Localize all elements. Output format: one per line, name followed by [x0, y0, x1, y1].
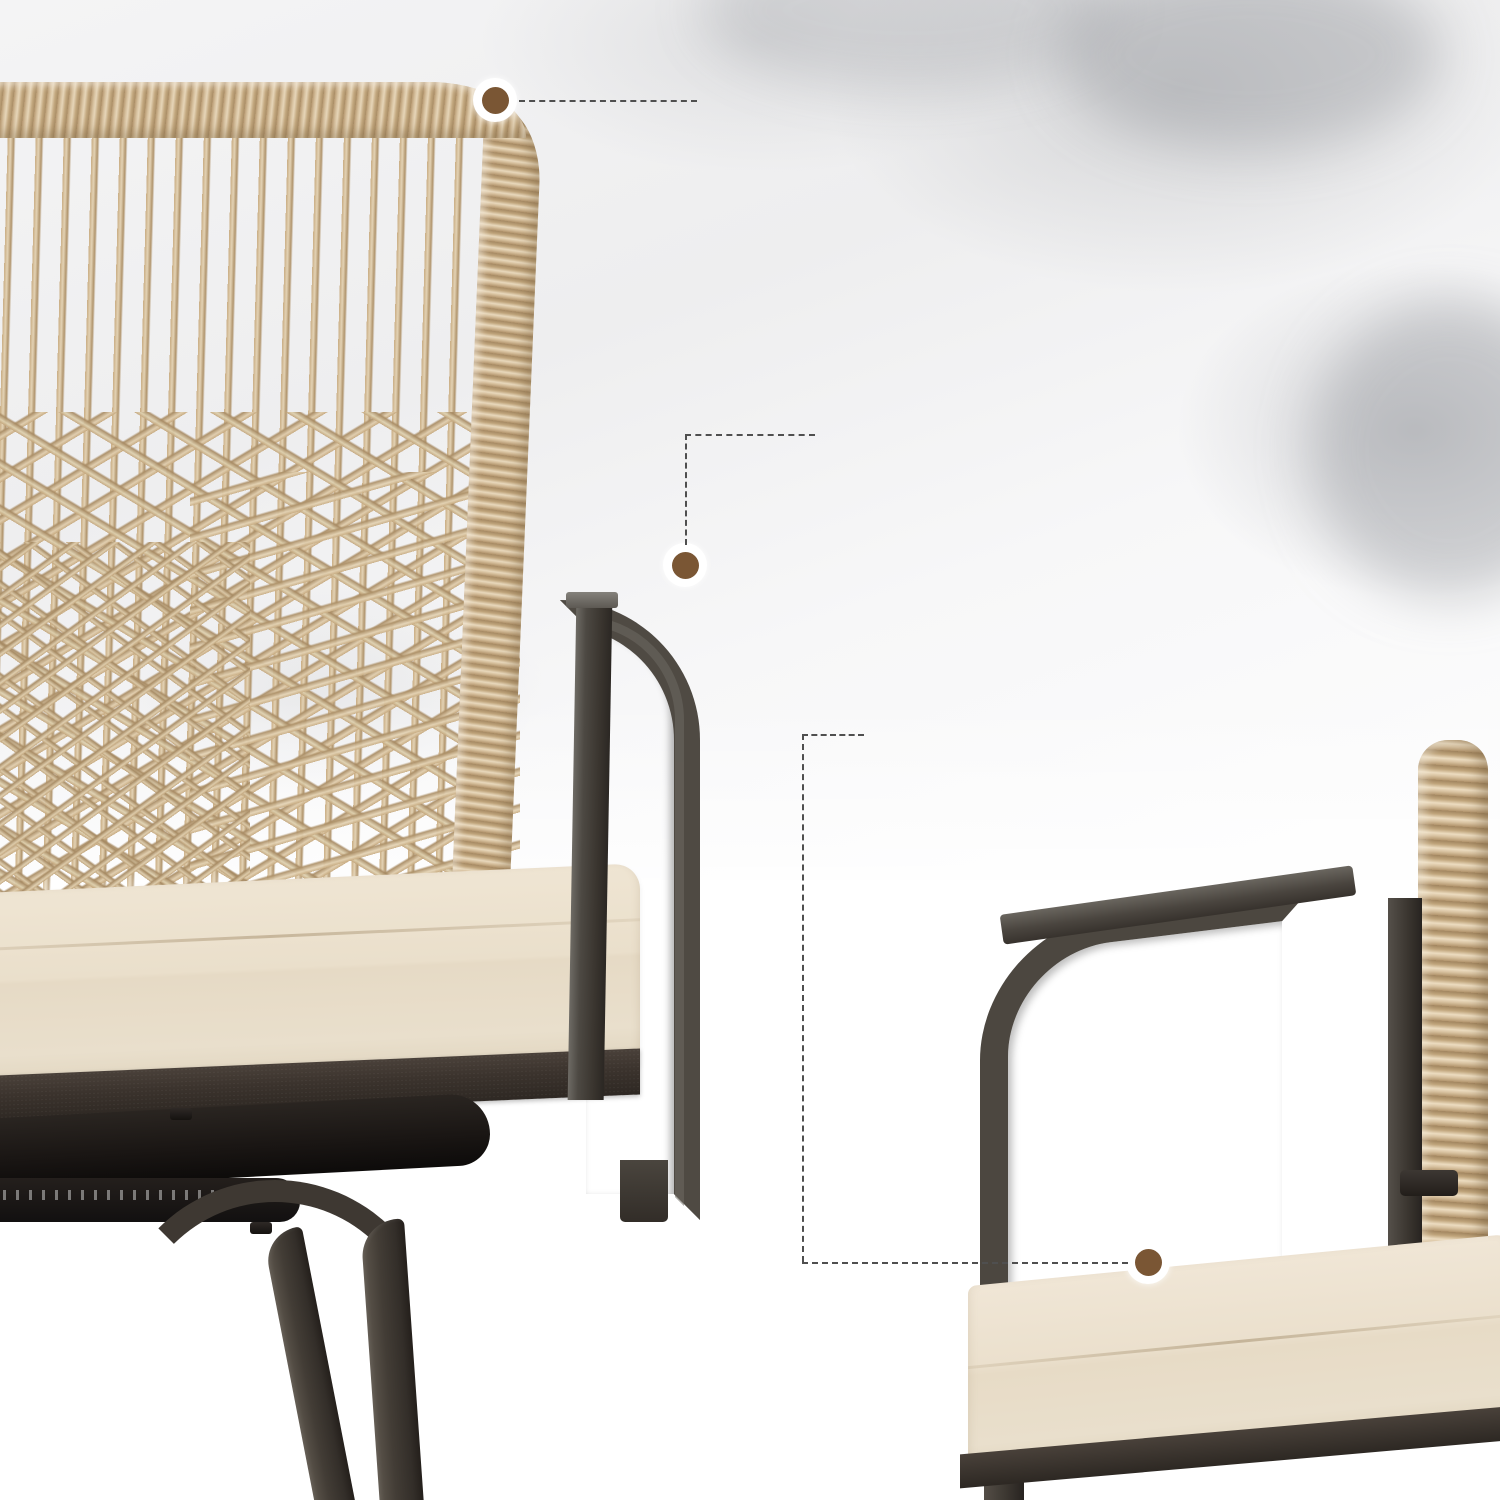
inset-product-photo: [950, 870, 1500, 1500]
infographic-canvas: Elegant Crisscross Rope Backrest Indoor/…: [0, 0, 1500, 1500]
callout-marker-dot-icon: [482, 87, 509, 114]
callout-marker-high-density-foam[interactable]: [1126, 1240, 1170, 1284]
rope-wrapped-top-rail: [0, 82, 526, 138]
callout-connector-curved-armrests-horizontal: [685, 434, 815, 436]
callout-connector-high-density-foam-vertical: [802, 734, 804, 1262]
callout-marker-dot-icon: [672, 552, 699, 579]
inset-rope-clip: [1400, 1170, 1458, 1196]
callout-connector-curved-armrests-vertical: [685, 434, 687, 545]
main-armrest-foot: [620, 1160, 668, 1222]
rope-backrest: [0, 82, 560, 902]
callout-connector-high-density-foam-bottom: [802, 1262, 1128, 1264]
callout-marker-curved-armrests[interactable]: [663, 543, 707, 587]
swivel-clip-2: [170, 1108, 192, 1120]
callout-marker-crisscross-rope-backrest[interactable]: [473, 78, 517, 122]
callout-connector-crisscross-rope-backrest: [519, 100, 697, 102]
callout-connector-high-density-foam-top: [802, 734, 864, 736]
main-product-photo: [0, 60, 720, 1500]
rope-dense-weave-cluster: [0, 542, 250, 922]
main-armrest-post-cap: [566, 592, 618, 608]
callout-marker-dot-icon: [1135, 1249, 1162, 1276]
